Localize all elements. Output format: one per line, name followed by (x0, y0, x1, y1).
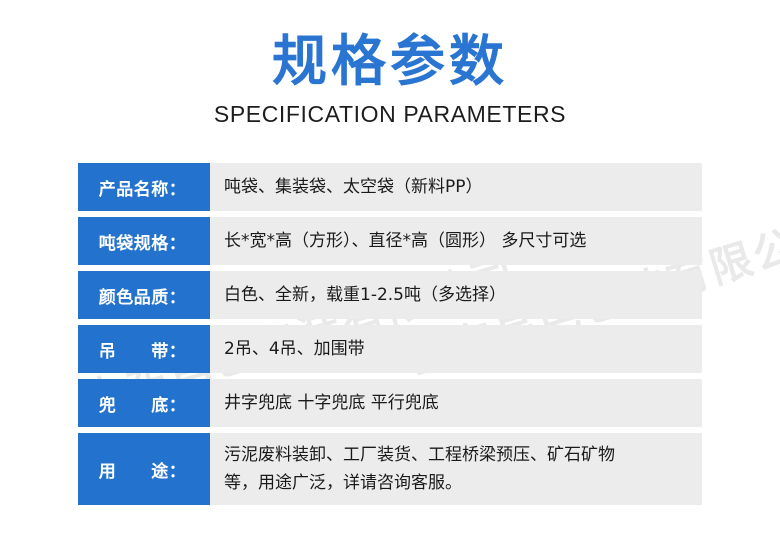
spec-label-product-name: 产品名称： (78, 163, 207, 211)
spec-label-text: 兜 底： (99, 391, 187, 416)
spec-value-text: 2吊、4吊、加围带 (224, 335, 365, 363)
spec-value-product-name: 吨袋、集装袋、太空袋（新料PP） (207, 163, 702, 211)
table-row: 吨袋规格： 长*宽*高（方形）、直径*高（圆形） 多尺寸可选 (78, 217, 702, 265)
spec-label-usage: 用 途： (78, 433, 207, 505)
spec-label-text: 用 途： (99, 457, 187, 482)
spec-value-text: 井字兜底 十字兜底 平行兜底 (224, 389, 439, 417)
spec-value-usage: 污泥废料装卸、工厂装货、工程桥梁预压、矿石矿物 等，用途广泛，详请咨询客服。 (207, 433, 702, 505)
spec-label-text: 颜色品质： (99, 283, 187, 308)
table-row: 吊 带： 2吊、4吊、加围带 (78, 325, 702, 373)
page-title-english: SPECIFICATION PARAMETERS (0, 100, 780, 128)
table-row: 用 途： 污泥废料装卸、工厂装货、工程桥梁预压、矿石矿物 等，用途广泛，详请咨询… (78, 433, 702, 505)
spec-label-text: 吊 带： (99, 337, 187, 362)
table-row: 产品名称： 吨袋、集装袋、太空袋（新料PP） (78, 163, 702, 211)
spec-label-text: 吨袋规格： (99, 229, 187, 254)
spec-label-text: 产品名称： (99, 175, 187, 200)
table-row: 兜 底： 井字兜底 十字兜底 平行兜底 (78, 379, 702, 427)
spec-value-text: 污泥废料装卸、工厂装货、工程桥梁预压、矿石矿物 等，用途广泛，详请咨询客服。 (224, 441, 615, 497)
specification-table: 产品名称： 吨袋、集装袋、太空袋（新料PP） 吨袋规格： 长*宽*高（方形）、直… (78, 163, 702, 511)
spec-value-text: 吨袋、集装袋、太空袋（新料PP） (224, 173, 483, 201)
spec-value-text: 白色、全新，载重1-2.5吨（多选择） (224, 281, 506, 309)
spec-label-color-quality: 颜色品质： (78, 271, 207, 319)
spec-value-bag-size: 长*宽*高（方形）、直径*高（圆形） 多尺寸可选 (207, 217, 702, 265)
spec-label-bottom-type: 兜 底： (78, 379, 207, 427)
page-header: 规格参数 SPECIFICATION PARAMETERS (0, 30, 780, 128)
spec-value-color-quality: 白色、全新，载重1-2.5吨（多选择） (207, 271, 702, 319)
spec-value-lifting-strap: 2吊、4吊、加围带 (207, 325, 702, 373)
spec-value-text: 长*宽*高（方形）、直径*高（圆形） 多尺寸可选 (224, 227, 586, 255)
page-title-chinese: 规格参数 (0, 30, 780, 92)
spec-label-bag-size: 吨袋规格： (78, 217, 207, 265)
spec-label-lifting-strap: 吊 带： (78, 325, 207, 373)
table-row: 颜色品质： 白色、全新，载重1-2.5吨（多选择） (78, 271, 702, 319)
spec-value-bottom-type: 井字兜底 十字兜底 平行兜底 (207, 379, 702, 427)
